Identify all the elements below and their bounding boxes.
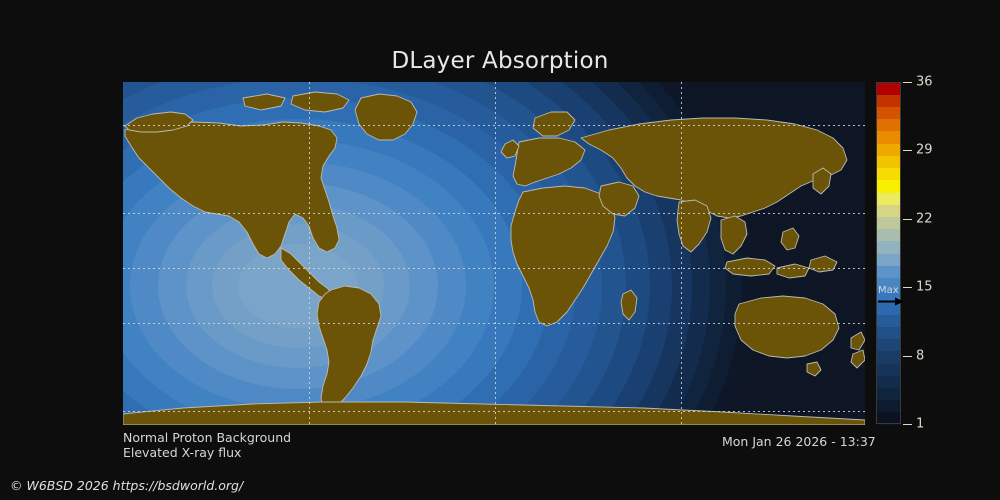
gridline-lat-66s: [123, 411, 865, 412]
landmass-shapes: [123, 92, 865, 425]
gridline-lon-90e: [681, 82, 682, 425]
colorbar-tick: [903, 287, 912, 288]
colorbar-frame: [876, 82, 901, 424]
colorbar-max-arrow-icon: [878, 297, 904, 306]
colorbar-tick: [903, 356, 912, 357]
gridline-lat-23n: [123, 213, 865, 214]
gridline-lat-23s: [123, 323, 865, 324]
coastline-layer: [123, 82, 865, 425]
colorbar-tick: [903, 150, 912, 151]
footer-credit[interactable]: © W6BSD 2026 https://bsdworld.org/: [10, 478, 243, 493]
colorbar-max-label: Max: [878, 285, 899, 296]
xray-status-text: Elevated X-ray flux: [123, 445, 241, 460]
colorbar-tick: [903, 424, 912, 425]
colorbar-axis-label: Affected Frequency (MHz): [930, 82, 1000, 424]
colorbar-tick: [903, 219, 912, 220]
world-map-panel[interactable]: [123, 82, 865, 425]
gridline-lat-0: [123, 268, 865, 269]
proton-status-text: Normal Proton Background: [123, 430, 291, 445]
gridline-lat-66n: [123, 125, 865, 126]
timestamp-text: Mon Jan 26 2026 - 13:37: [722, 434, 876, 449]
page-title: DLayer Absorption: [0, 48, 1000, 74]
colorbar-tick: [903, 82, 912, 83]
colorbar-tick-label: 8: [916, 348, 924, 363]
gridline-lon-90w: [309, 82, 310, 425]
gridline-lon-0: [495, 82, 496, 425]
colorbar-tick-label: 1: [916, 417, 924, 432]
dlayer-absorption-screenshot: DLayer Absorption: [0, 0, 1000, 500]
